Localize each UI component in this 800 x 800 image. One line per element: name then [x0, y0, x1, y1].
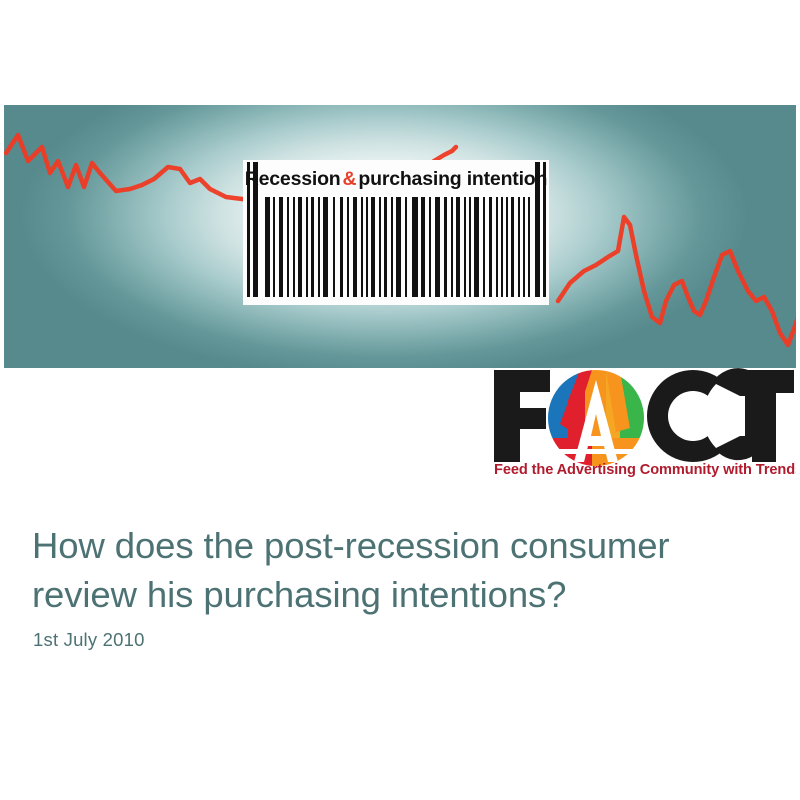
slide-date: 1st July 2010: [33, 629, 145, 651]
barcode-graphic: Recession & purchasing intention: [243, 160, 549, 305]
fact-logo: Feed the Advertising Community with Tren…: [488, 366, 796, 478]
slide-title-block: How does the post-recession consumer rev…: [32, 521, 762, 619]
logo-tagline: Feed the Advertising Community with Tren…: [494, 462, 796, 478]
logo-letter-f-icon: [494, 370, 550, 462]
header-banner-image: Recession & purchasing intention: [4, 105, 796, 368]
barcode-bars: [243, 160, 549, 305]
fact-logo-graphic: Feed the Advertising Community with Tren…: [488, 366, 796, 478]
page-title: How does the post-recession consumer rev…: [32, 521, 762, 619]
presentation-slide: Recession & purchasing intention: [0, 0, 800, 800]
chart-line-right: [558, 217, 796, 357]
logo-letter-a-icon: [548, 370, 646, 468]
